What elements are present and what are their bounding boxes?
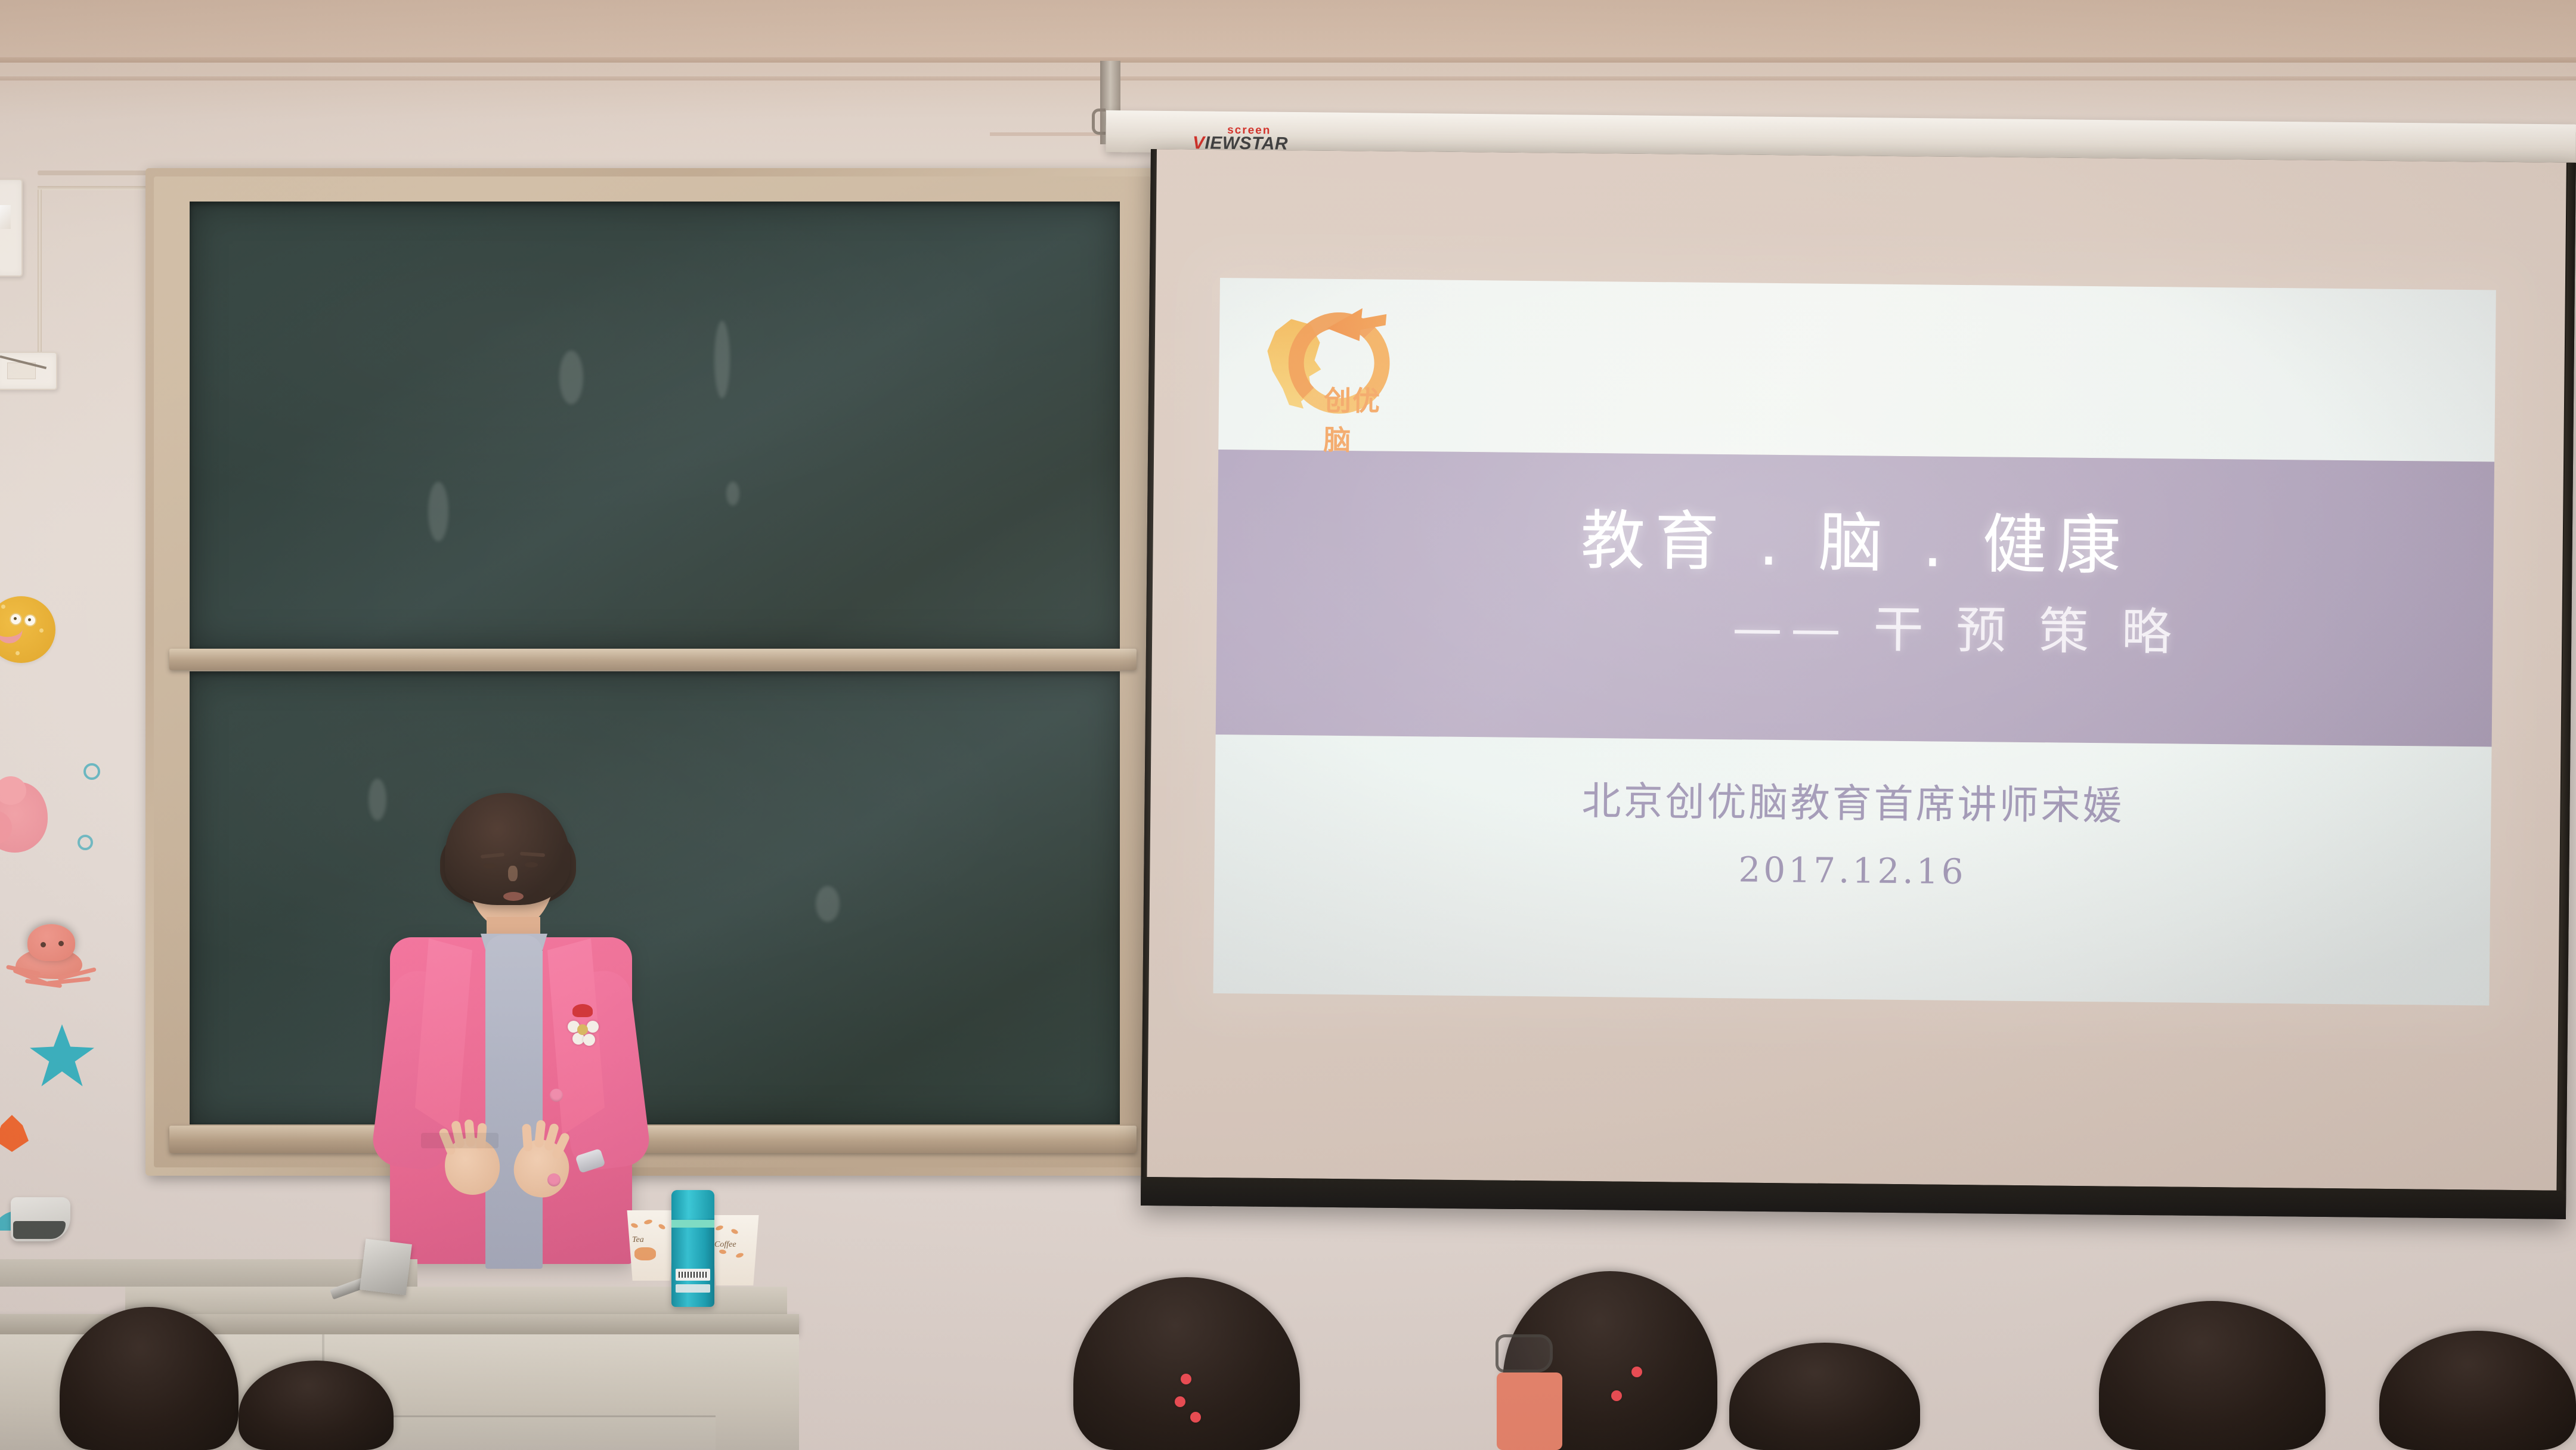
student-head-3	[1073, 1277, 1300, 1450]
wall-cornice-line-2	[0, 76, 2576, 80]
classroom-photo-scene: screen VIEWSTAR 创优脑 教育 . 脑 . 健康 —— 干 预 策…	[0, 0, 2576, 1450]
logo-text: 创优脑	[1323, 379, 1391, 458]
thermos-barcode-label	[676, 1269, 710, 1281]
nose	[508, 866, 518, 881]
blazer-pocket	[421, 1133, 499, 1148]
light-switch-plate-upper[interactable]	[0, 179, 23, 277]
blackboard-eraser[interactable]	[11, 1197, 70, 1241]
student-head-4	[1479, 1271, 1729, 1450]
conduit-pipe-horizontal	[38, 186, 160, 190]
thermos-text-label	[676, 1284, 710, 1293]
grey-scarf	[485, 935, 543, 1269]
student-head-7	[2379, 1331, 2576, 1450]
bubble-sticker-2	[78, 835, 93, 850]
student-head-2	[239, 1361, 394, 1450]
slide-title: 教育 . 脑 . 健康	[1217, 485, 2494, 591]
slide-presenter-name: 北京创优脑教育首席讲师宋媛	[1215, 766, 2491, 835]
hair	[445, 793, 570, 905]
laptop-on-stand[interactable]	[360, 1239, 412, 1296]
thermos-cap	[671, 1190, 714, 1219]
paper-cup-right[interactable]: Coffee	[707, 1215, 762, 1285]
chuangyounao-brain-logo: 创优脑	[1259, 302, 1392, 411]
chalkboard-middle-rail	[169, 649, 1137, 670]
slide-band-top	[1218, 278, 2496, 462]
student-head-5	[1729, 1343, 1920, 1450]
wall-cornice-line-1	[0, 57, 2576, 63]
octopus-sticker	[7, 924, 97, 1002]
sun-smile	[0, 621, 24, 645]
paper-cup-left[interactable]: Tea	[624, 1210, 679, 1281]
bubble-sticker-1	[83, 763, 100, 780]
ceiling	[0, 0, 2576, 57]
starfish-sticker	[30, 1024, 94, 1086]
thermos-ring	[671, 1220, 714, 1228]
teacher-presenter	[358, 787, 692, 1264]
mouth	[503, 892, 524, 901]
projected-slide: 创优脑 教育 . 脑 . 健康 —— 干 预 策 略 北京创优脑教育首席讲师宋媛…	[1213, 278, 2495, 1005]
student-glasses	[1496, 1334, 1553, 1372]
flower-brooch	[568, 1006, 600, 1046]
student-head-6	[2099, 1301, 2326, 1450]
student-collar	[1497, 1372, 1562, 1450]
chalkboard-panel-upper	[190, 202, 1120, 649]
thermos-bottle[interactable]	[671, 1190, 714, 1307]
student-head-1	[60, 1307, 239, 1450]
slide-subtitle: —— 干 预 策 略	[1216, 583, 2576, 668]
conduit-pipe-vertical	[38, 190, 42, 358]
conduit-corner	[38, 171, 160, 175]
